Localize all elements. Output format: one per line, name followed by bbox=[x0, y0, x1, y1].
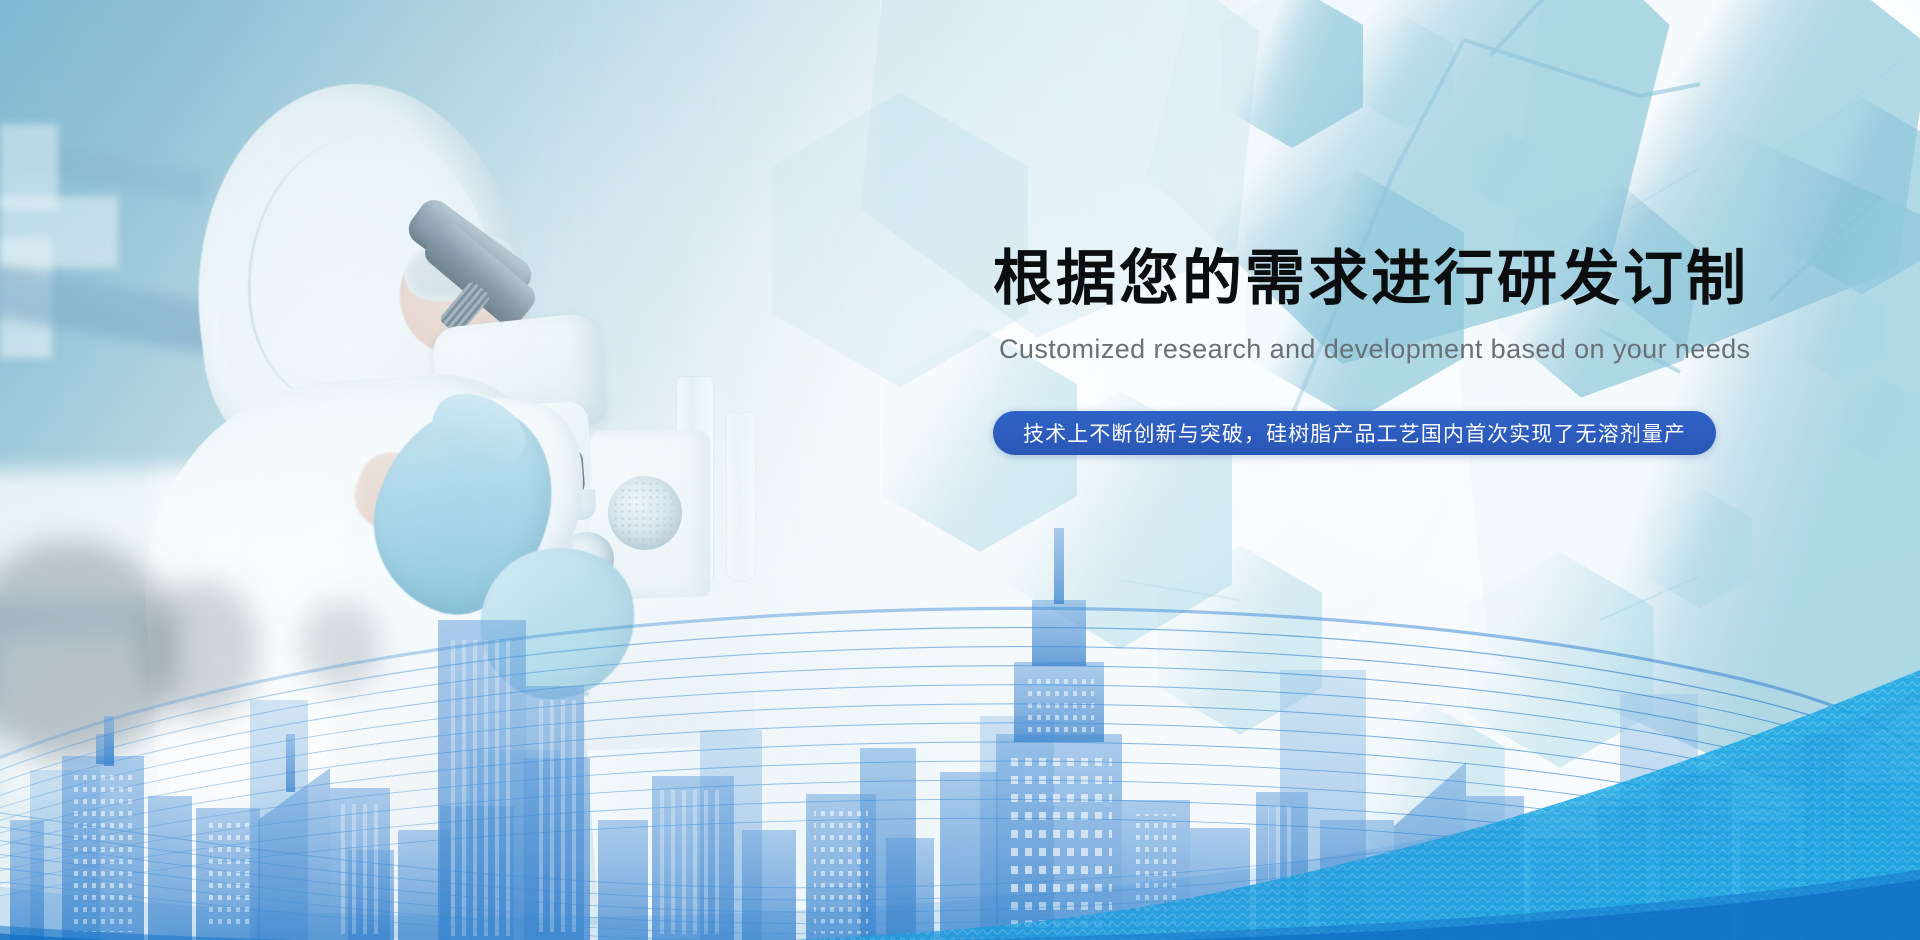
tagline-badge: 技术上不断创新与突破，硅树脂产品工艺国内首次实现了无溶剂量产 bbox=[993, 411, 1716, 455]
banner-text-block: 根据您的需求进行研发订制 Customized research and dev… bbox=[993, 248, 1833, 455]
page-title: 根据您的需求进行研发订制 bbox=[993, 248, 1833, 312]
flowing-wave-lines-graphic bbox=[0, 480, 1920, 940]
hero-banner: 根据您的需求进行研发订制 Customized research and dev… bbox=[0, 0, 1920, 940]
page-subtitle: Customized research and development base… bbox=[999, 334, 1833, 365]
